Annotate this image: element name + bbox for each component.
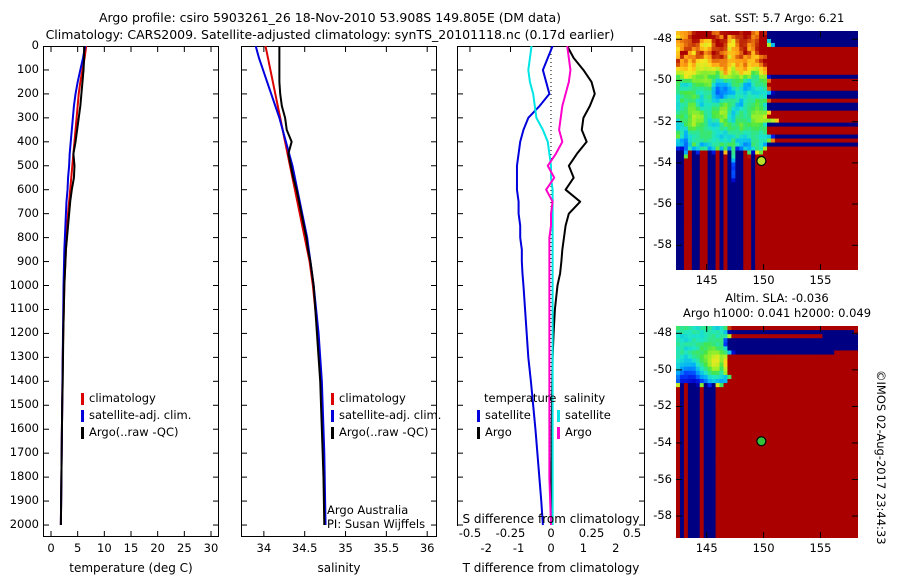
sst-map-title: sat. SST: 5.7 Argo: 6.21 [672, 11, 882, 25]
difference-profile-plot [457, 46, 645, 537]
sst-lat-tick-2: -52 [630, 114, 672, 128]
sst-lon-tick-0: 145 [687, 273, 727, 287]
depth-tick-2000: 2000 [1, 517, 39, 531]
legend-swatch-satelliteadjclim [81, 410, 84, 422]
legend-label-0: climatology [89, 391, 156, 405]
salinity-legend-label-2: Argo(..raw -QC) [339, 425, 429, 439]
page-title-line1: Argo profile: csiro 5903261_26 18-Nov-20… [0, 10, 660, 25]
sla-lat-tick-4: -56 [630, 472, 672, 486]
salinity-tick-4: 36 [402, 541, 452, 555]
sst-lon-tick-1: 150 [744, 273, 784, 287]
depth-tick-1200: 1200 [1, 325, 39, 339]
depth-tick-300: 300 [1, 110, 39, 124]
depth-tick-1400: 1400 [1, 373, 39, 387]
difference-legend-header-salinity: salinity [564, 391, 605, 405]
s-diff-tick-4: 0.5 [608, 526, 656, 540]
depth-tick-1900: 1900 [1, 493, 39, 507]
salinity-axis-label: salinity [241, 561, 437, 575]
t-diff-tick-4: 2 [596, 541, 636, 555]
sst-lat-tick-0: -48 [630, 31, 672, 45]
salinity-legend-label-1: satellite-adj. clim. [339, 408, 441, 422]
sla-lat-tick-5: -58 [630, 508, 672, 522]
salinity-profile-plot [241, 46, 437, 537]
temperature-tick-30: 30 [191, 541, 231, 555]
legend-label-1: satellite-adj. clim. [89, 408, 191, 422]
sla-map-image [676, 326, 858, 538]
page-title-line2: Climatology: CARS2009. Satellite-adjuste… [0, 27, 660, 42]
depth-tick-1100: 1100 [1, 301, 39, 315]
difference-legend-header-temperature: temperature [484, 391, 556, 405]
legend-swatch-climatology [81, 393, 84, 405]
salinity-legend-swatch-0 [331, 393, 334, 405]
salinity-legend-swatch-2 [331, 427, 334, 439]
t-difference-axis-label: T difference from climatology [457, 561, 645, 575]
depth-tick-600: 600 [1, 182, 39, 196]
sla-lat-tick-2: -52 [630, 398, 672, 412]
difference-legend-label-0: satellite [485, 408, 531, 422]
depth-tick-800: 800 [1, 230, 39, 244]
sla-lat-tick-1: -50 [630, 362, 672, 376]
depth-tick-700: 700 [1, 206, 39, 220]
depth-tick-0: 0 [1, 38, 39, 52]
depth-tick-900: 900 [1, 254, 39, 268]
temperature-profile-plot [43, 46, 219, 537]
legend-swatch-argorawqc [81, 427, 84, 439]
depth-tick-500: 500 [1, 158, 39, 172]
difference-legend-label-1: Argo [485, 425, 512, 439]
depth-tick-1300: 1300 [1, 349, 39, 363]
sla-map-title-line1: Altim. SLA: -0.036 [672, 291, 882, 305]
sst-lat-tick-3: -54 [630, 155, 672, 169]
sst-lat-tick-5: -58 [630, 237, 672, 251]
sla-lon-tick-2: 155 [800, 541, 840, 555]
imos-credit: ©IMOS 02-Aug-2017 23:44:33 [874, 370, 888, 545]
depth-tick-1600: 1600 [1, 421, 39, 435]
depth-tick-1800: 1800 [1, 469, 39, 483]
depth-tick-400: 400 [1, 134, 39, 148]
argo-pi-note: PI: Susan Wijffels [327, 517, 425, 531]
difference-legend-label-3: Argo [565, 425, 592, 439]
sst-lat-tick-1: -50 [630, 72, 672, 86]
depth-tick-1700: 1700 [1, 445, 39, 459]
sla-lat-tick-3: -54 [630, 435, 672, 449]
sst-lon-tick-2: 155 [800, 273, 840, 287]
sla-lon-tick-1: 150 [744, 541, 784, 555]
depth-tick-1500: 1500 [1, 397, 39, 411]
difference-legend-swatch-3 [557, 427, 560, 439]
temperature-axis-label: temperature (deg C) [43, 561, 219, 575]
legend-label-2: Argo(..raw -QC) [89, 425, 179, 439]
difference-legend-swatch-1 [477, 427, 480, 439]
argo-australia-note: Argo Australia [327, 503, 408, 517]
depth-tick-100: 100 [1, 62, 39, 76]
sla-map-title-line2: Argo h1000: 0.041 h2000: 0.049 [667, 306, 887, 320]
depth-tick-1000: 1000 [1, 278, 39, 292]
s-difference-axis-label: S difference from climatology [457, 512, 645, 526]
salinity-legend-label-0: climatology [339, 391, 406, 405]
depth-tick-200: 200 [1, 86, 39, 100]
sst-map-image [676, 31, 858, 270]
difference-legend-label-2: satellite [565, 408, 611, 422]
sla-lat-tick-0: -48 [630, 325, 672, 339]
difference-legend-swatch-0 [477, 410, 480, 422]
salinity-legend-swatch-1 [331, 410, 334, 422]
sst-lat-tick-4: -56 [630, 196, 672, 210]
difference-legend-swatch-2 [557, 410, 560, 422]
sla-lon-tick-0: 145 [687, 541, 727, 555]
